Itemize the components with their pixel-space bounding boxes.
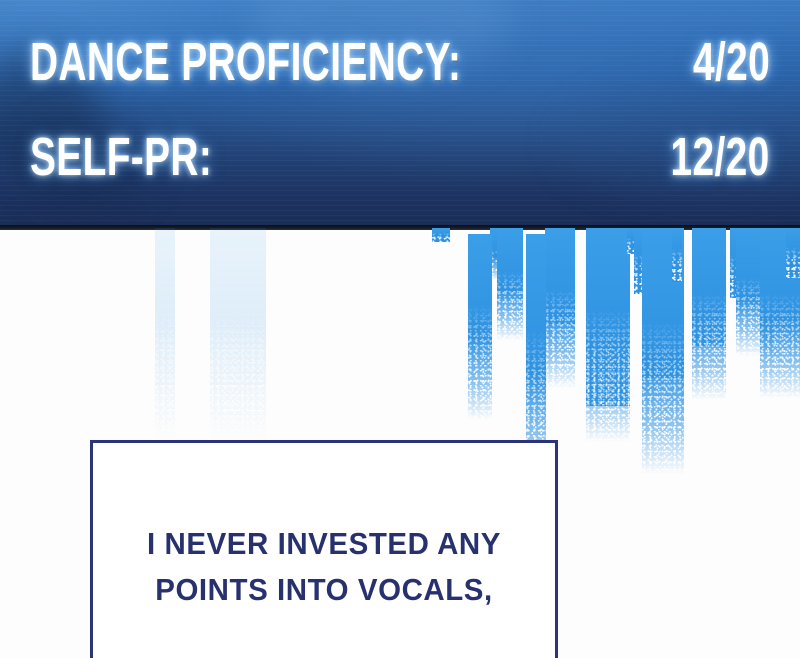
deco-bar-dither-tail <box>692 293 726 400</box>
deco-bar-dither-tail <box>545 289 575 388</box>
comic-panel-page: DANCE PROFICIENCY: 4/20 SELF-PR: 12/20 I… <box>0 0 800 658</box>
deco-bar-dither-tail <box>642 285 684 378</box>
deco-bar <box>672 228 682 282</box>
speech-bubble-line-1: I NEVER INVESTED ANY <box>105 521 544 567</box>
deco-bar-dither-tail <box>586 309 630 442</box>
deco-bar-dither-tail <box>497 271 523 340</box>
deco-bar <box>642 228 684 378</box>
deco-bar <box>634 228 642 294</box>
deco-bar <box>692 228 726 400</box>
deco-bar-dither-tail <box>786 247 800 278</box>
deco-bar-dither-tail <box>634 253 642 294</box>
deco-bar <box>432 228 450 242</box>
deco-bar-dither-tail <box>468 305 492 420</box>
deco-bar-dither-tail <box>586 296 630 406</box>
speech-bubble-text: I NEVER INVESTED ANY POINTS INTO VOCALS, <box>105 521 544 613</box>
deco-bar-dither-tail <box>210 310 266 443</box>
deco-bar <box>642 228 684 474</box>
deco-bar-dither-tail <box>545 264 575 324</box>
deco-bar <box>786 228 800 278</box>
deco-bar <box>210 228 266 443</box>
speech-bubble: I NEVER INVESTED ANY POINTS INTO VOCALS, <box>90 440 558 658</box>
deco-bar <box>586 228 630 442</box>
deco-bar-dither-tail <box>736 277 774 356</box>
speech-bubble-line-2: POINTS INTO VOCALS, <box>105 567 544 613</box>
deco-bar-dither-tail <box>692 273 726 346</box>
deco-bar-dither-tail <box>760 293 800 398</box>
stat-panel: DANCE PROFICIENCY: 4/20 SELF-PR: 12/20 <box>0 0 800 226</box>
stat-value-dance-proficiency: 4/20 <box>693 33 770 91</box>
deco-bar-dither-tail <box>642 321 684 474</box>
stat-value-self-pr: 12/20 <box>671 128 770 186</box>
stat-row-dance-proficiency: DANCE PROFICIENCY: 4/20 <box>0 32 800 92</box>
deco-bar <box>760 228 800 398</box>
deco-bar <box>586 228 630 406</box>
deco-bar <box>730 228 774 298</box>
deco-bar <box>692 228 726 346</box>
stat-panel-bottom-edge <box>0 225 800 230</box>
deco-bar-dither-tail <box>155 310 175 443</box>
deco-bar-dither-tail <box>730 255 774 298</box>
deco-bar <box>545 228 575 324</box>
deco-bar <box>155 228 175 443</box>
deco-bar <box>627 228 655 254</box>
stat-label-dance-proficiency: DANCE PROFICIENCY: <box>30 33 461 91</box>
deco-bar-dither-tail <box>432 233 450 242</box>
stat-label-self-pr: SELF-PR: <box>30 128 212 186</box>
deco-bar-dither-tail <box>672 249 682 282</box>
deco-bar <box>490 228 522 280</box>
deco-bar <box>545 228 575 388</box>
deco-bar-dither-tail <box>627 238 655 254</box>
deco-bar-dither-tail <box>490 248 522 280</box>
deco-bar <box>497 228 523 340</box>
deco-bar <box>736 228 774 356</box>
stat-row-self-pr: SELF-PR: 12/20 <box>0 127 800 187</box>
deco-bar <box>468 234 492 420</box>
